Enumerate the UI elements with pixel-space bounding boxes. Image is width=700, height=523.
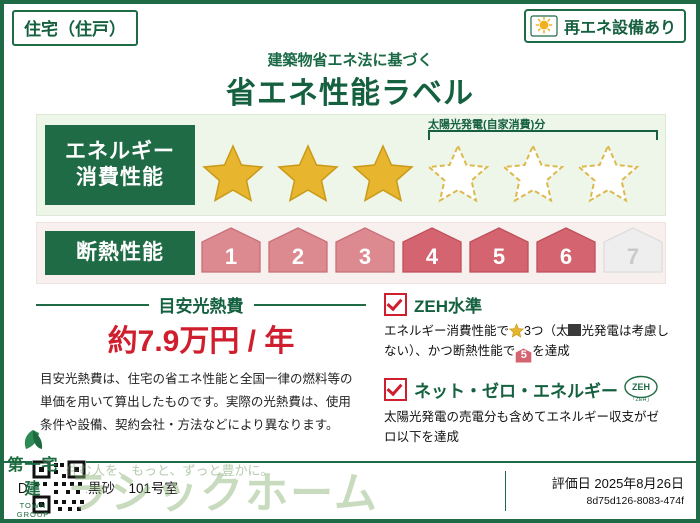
zeh-standard-row: ZEH水準 [384, 292, 669, 317]
mini-grade-value: 5 [521, 349, 527, 361]
footer-divider [505, 471, 506, 511]
insulation-grade-7: 7 [602, 226, 664, 274]
insulation-grade-5-label: 5 [493, 244, 505, 270]
check-icon [384, 378, 407, 401]
zeh-standard-desc: エネルギー消費性能で3つ（太光発電は考慮しない）、かつ断熱性能で5を達成 [384, 321, 669, 363]
zeh-netzero-desc: 太陽光発電の売電分も含めてエネルギー収支がゼロ以下を達成 [384, 407, 669, 447]
star-filled-1 [200, 142, 266, 204]
check-icon [384, 293, 407, 316]
cost-heading: 目安光熱費 [149, 292, 254, 317]
insulation-grade-5: 5 [468, 226, 530, 274]
zeh-block: ZEH水準 エネルギー消費性能で3つ（太光発電は考慮しない）、かつ断熱性能で5を… [384, 292, 669, 447]
redacted-block [568, 324, 581, 336]
zeh-desc-end: を達成 [532, 344, 570, 358]
energy-category-line2: 消費性能 [76, 165, 164, 191]
insulation-grade-3-label: 3 [359, 244, 371, 270]
cost-rule-right [254, 304, 367, 306]
qr-code-icon [32, 460, 86, 514]
star-outline-6 [575, 142, 641, 204]
insulation-grade-6: 6 [535, 226, 597, 274]
sun-icon [530, 14, 558, 38]
page-title: 省エネ性能ラベル [4, 68, 696, 112]
insulation-grade-4-label: 4 [426, 244, 438, 270]
insulation-grade-7-label: 7 [627, 244, 639, 270]
insulation-grade-6-label: 6 [560, 244, 572, 270]
svg-text:「ZEH」: 「ZEH」 [630, 396, 652, 403]
footer-right: 評価日 2025年8月26日 8d75d126-8083-474f [552, 473, 684, 507]
cost-rule-left [36, 304, 149, 306]
header-row: 住宅（住戸） 再エ [4, 4, 696, 46]
zeh-desc-pre: エネルギー消費性能で [384, 324, 509, 338]
mini-grade-badge: 5 [515, 348, 532, 363]
zeh-netzero-title: ネット・ゼロ・エネルギー [414, 377, 618, 402]
footer-eval-date: 評価日 2025年8月26日 [552, 473, 684, 492]
energy-performance-label: 住宅（住戸） 再エ [0, 0, 700, 523]
cost-note: 目安光熱費は、住宅の省エネ性能と全国一律の燃料等の単価を用いて算出したものです。… [40, 368, 362, 437]
zeh-standard-title: ZEH水準 [414, 292, 482, 317]
cost-value: 約7.9万円 / 年 [36, 316, 366, 360]
house-type-tag: 住宅（住戸） [12, 10, 138, 46]
zeh-netzero-row: ネット・ゼロ・エネルギー ZEH 「ZEH」 [384, 375, 669, 403]
star-outline-5 [500, 142, 566, 204]
star-outline-4 [425, 142, 491, 204]
footer: Ｄ-セアリス黒砂 101号室 評価日 2025年8月26日 8d75d126-8… [4, 461, 696, 519]
mini-star-icon [509, 323, 524, 338]
energy-category-box: エネルギー 消費性能 [45, 125, 195, 205]
cost-heading-row: 目安光熱費 [36, 292, 366, 317]
insulation-grade-scale: 1 2 3 4 5 6 7 [200, 226, 664, 274]
svg-text:ZEH: ZEH [632, 382, 650, 392]
insulation-grade-4: 4 [401, 226, 463, 274]
insulation-grade-2-label: 2 [292, 244, 304, 270]
star-filled-2 [275, 142, 341, 204]
solar-bracket [428, 130, 658, 140]
solar-equipment-label: 再エネ設備あり [564, 14, 676, 38]
insulation-grade-2: 2 [267, 226, 329, 274]
energy-star-rating [200, 142, 660, 204]
insulation-grade-1-label: 1 [225, 244, 237, 270]
zeh-desc-star-count: 3つ（太 [524, 324, 568, 338]
subtitle: 建築物省エネ法に基づく [4, 49, 696, 70]
insulation-category-label: 断熱性能 [76, 240, 164, 266]
zeh-badge-icon: ZEH 「ZEH」 [624, 375, 658, 403]
star-filled-3 [350, 142, 416, 204]
insulation-category-box: 断熱性能 [45, 231, 195, 275]
insulation-grade-3: 3 [334, 226, 396, 274]
energy-category-line1: エネルギー [65, 139, 175, 165]
footer-code: 8d75d126-8083-474f [552, 495, 684, 507]
insulation-grade-1: 1 [200, 226, 262, 274]
solar-equipment-tag: 再エネ設備あり [524, 9, 686, 43]
